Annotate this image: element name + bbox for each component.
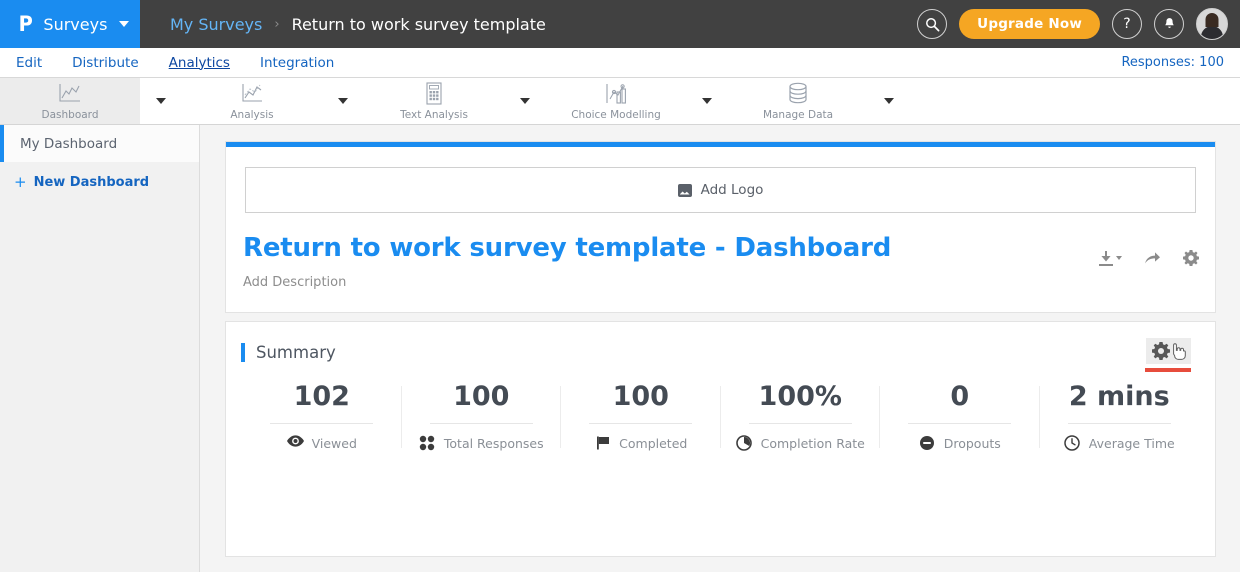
- stat-value: 2 mins: [1040, 380, 1200, 414]
- dashboard-sidebar: My Dashboard + New Dashboard: [0, 125, 200, 572]
- toolbar-caret-dashboard[interactable]: [140, 78, 182, 124]
- stat-label-row: Completion Rate: [721, 435, 881, 452]
- stat-label: Dropouts: [944, 436, 1001, 451]
- stat-completed: 100 Completed: [561, 380, 721, 452]
- help-button[interactable]: ?: [1112, 9, 1142, 39]
- top-bar: P Surveys My Surveys › Return to work su…: [0, 0, 1240, 48]
- toolbar-label-text-analysis: Text Analysis: [400, 109, 468, 121]
- bar-scatter-icon: [604, 82, 628, 106]
- stat-label-row: Average Time: [1040, 435, 1200, 452]
- toolbar-caret-choice-modelling[interactable]: [686, 78, 728, 124]
- dashboard-header-card: Add Logo Return to work survey template …: [225, 141, 1216, 313]
- chevron-down-icon: [156, 98, 166, 104]
- settings-highlight-bar: [1145, 368, 1191, 372]
- avatar[interactable]: [1196, 8, 1228, 40]
- toolbar-caret-text-analysis[interactable]: [504, 78, 546, 124]
- stat-viewed: 102 Viewed: [242, 380, 402, 452]
- section-tab-bar: Edit Distribute Analytics Integration Re…: [0, 48, 1240, 78]
- stat-label: Completion Rate: [761, 436, 865, 451]
- chevron-down-icon: [520, 98, 530, 104]
- toolbar-item-manage-data[interactable]: Manage Data: [728, 78, 868, 124]
- tab-edit[interactable]: Edit: [8, 55, 50, 71]
- mouse-cursor-pointer-icon: [1171, 343, 1186, 360]
- add-logo-label: Add Logo: [701, 182, 764, 198]
- notifications-button[interactable]: [1154, 9, 1184, 39]
- new-dashboard-label: New Dashboard: [34, 175, 150, 190]
- breadcrumb-my-surveys[interactable]: My Surveys: [170, 15, 262, 34]
- card-accent-stripe: [226, 142, 1215, 147]
- line-chart-icon: [58, 82, 82, 106]
- plus-icon: +: [14, 173, 27, 191]
- sidebar-item-label: My Dashboard: [20, 136, 117, 152]
- stat-label-row: Total Responses: [402, 435, 562, 452]
- summary-stats: 102 Viewed 100: [226, 380, 1215, 452]
- dashboard-main: Add Logo Return to work survey template …: [200, 125, 1240, 572]
- tab-integration[interactable]: Integration: [252, 55, 342, 71]
- stat-value: 100: [561, 380, 721, 414]
- stat-label: Total Responses: [444, 436, 544, 451]
- toolbar-label-choice-modelling: Choice Modelling: [571, 109, 661, 121]
- stat-label: Completed: [619, 436, 687, 451]
- toolbar-item-dashboard[interactable]: Dashboard: [0, 78, 140, 124]
- brand-menu[interactable]: P Surveys: [0, 0, 140, 48]
- share-icon: [1144, 251, 1161, 265]
- clock-icon: [1064, 435, 1081, 452]
- chevron-down-icon: [702, 98, 712, 104]
- dashboard-settings-button[interactable]: [1183, 250, 1199, 266]
- gear-icon: [1152, 342, 1170, 360]
- dashboard-header-actions: [1099, 250, 1199, 266]
- stat-value: 0: [880, 380, 1040, 414]
- stat-label-row: Viewed: [242, 435, 402, 452]
- summary-title: Summary: [256, 343, 336, 362]
- four-dots-icon: [419, 435, 436, 452]
- stat-divider: [589, 423, 692, 424]
- breadcrumb: My Surveys › Return to work survey templ…: [170, 15, 546, 34]
- chevron-down-icon: [338, 98, 348, 104]
- chevron-down-icon: [1116, 256, 1122, 260]
- stat-label-row: Completed: [561, 435, 721, 452]
- stat-average-time: 2 mins Average Time: [1040, 380, 1200, 452]
- add-logo-dropzone[interactable]: Add Logo: [245, 167, 1196, 213]
- download-button[interactable]: [1099, 251, 1122, 266]
- responses-count: Responses: 100: [1121, 55, 1224, 70]
- flag-icon: [594, 435, 611, 452]
- stat-total-responses: 100 Total Responses: [402, 380, 562, 452]
- stat-label-row: Dropouts: [880, 435, 1040, 452]
- breadcrumb-separator-icon: ›: [274, 17, 279, 32]
- tab-distribute[interactable]: Distribute: [64, 55, 147, 71]
- analytics-toolbar: Dashboard Analysis Text Anal: [0, 78, 1240, 125]
- new-dashboard-button[interactable]: + New Dashboard: [0, 162, 199, 202]
- question-mark-icon: ?: [1123, 16, 1130, 32]
- minus-circle-icon: [919, 435, 936, 452]
- brand-label: Surveys: [43, 15, 107, 34]
- top-bar-actions: Upgrade Now ?: [917, 0, 1228, 48]
- chevron-down-icon: [119, 21, 129, 27]
- toolbar-item-text-analysis[interactable]: Text Analysis: [364, 78, 504, 124]
- sidebar-item-my-dashboard[interactable]: My Dashboard: [0, 125, 199, 162]
- share-button[interactable]: [1144, 251, 1161, 265]
- image-icon: [678, 184, 692, 197]
- stat-completion-rate: 100% Completion Rate: [721, 380, 881, 452]
- add-description-field[interactable]: Add Description: [243, 275, 1215, 290]
- page-title[interactable]: Return to work survey template - Dashboa…: [243, 233, 1215, 263]
- eye-icon: [287, 435, 304, 452]
- stat-divider: [1068, 423, 1171, 424]
- search-icon: [925, 17, 940, 32]
- bell-icon: [1163, 17, 1176, 31]
- summary-settings-group: [1145, 338, 1191, 372]
- text-grid-icon: [424, 82, 444, 106]
- stat-dropouts: 0 Dropouts: [880, 380, 1040, 452]
- pie-icon: [736, 435, 753, 452]
- breadcrumb-current-survey: Return to work survey template: [292, 15, 546, 34]
- search-button[interactable]: [917, 9, 947, 39]
- stat-value: 102: [242, 380, 402, 414]
- card-spacer: [225, 313, 1216, 321]
- tab-analytics[interactable]: Analytics: [161, 55, 238, 71]
- stat-divider: [908, 423, 1011, 424]
- stat-divider: [270, 423, 373, 424]
- toolbar-item-analysis[interactable]: Analysis: [182, 78, 322, 124]
- scatter-chart-icon: [240, 82, 264, 106]
- toolbar-caret-manage-data[interactable]: [868, 78, 910, 124]
- summary-card: Summary 102: [225, 321, 1216, 557]
- gear-icon: [1183, 250, 1199, 266]
- product-logo-icon: P: [19, 14, 33, 35]
- toolbar-label-analysis: Analysis: [230, 109, 273, 121]
- stat-label: Viewed: [312, 436, 357, 451]
- stat-value: 100: [402, 380, 562, 414]
- section-accent-bar: [241, 343, 245, 362]
- toolbar-label-dashboard: Dashboard: [42, 109, 99, 121]
- database-icon: [787, 82, 809, 106]
- toolbar-item-choice-modelling[interactable]: Choice Modelling: [546, 78, 686, 124]
- stat-label: Average Time: [1089, 436, 1175, 451]
- download-icon: [1099, 251, 1113, 266]
- summary-header: Summary: [241, 343, 1215, 362]
- toolbar-label-manage-data: Manage Data: [763, 109, 833, 121]
- stat-divider: [749, 423, 852, 424]
- stat-divider: [430, 423, 533, 424]
- summary-settings-button[interactable]: [1146, 338, 1191, 364]
- chevron-down-icon: [884, 98, 894, 104]
- toolbar-caret-analysis[interactable]: [322, 78, 364, 124]
- stat-value: 100%: [721, 380, 881, 414]
- upgrade-now-button[interactable]: Upgrade Now: [959, 9, 1100, 39]
